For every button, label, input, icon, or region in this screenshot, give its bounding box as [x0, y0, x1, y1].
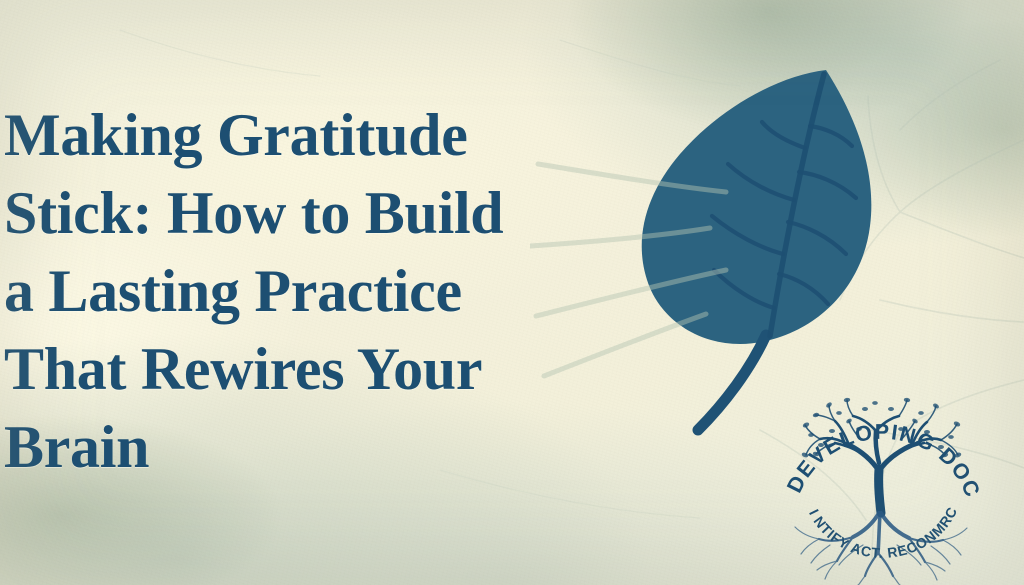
brand-logo[interactable]: THE DEVELOPING DOCTOR IBI NTIFY ACT. REC… — [775, 385, 990, 585]
hero-banner: Making Gratitude Stick: How to Build a L… — [0, 0, 1024, 585]
logo-svg: THE DEVELOPING DOCTOR IBI NTIFY ACT. REC… — [775, 385, 990, 585]
radiating-lines — [530, 150, 790, 390]
